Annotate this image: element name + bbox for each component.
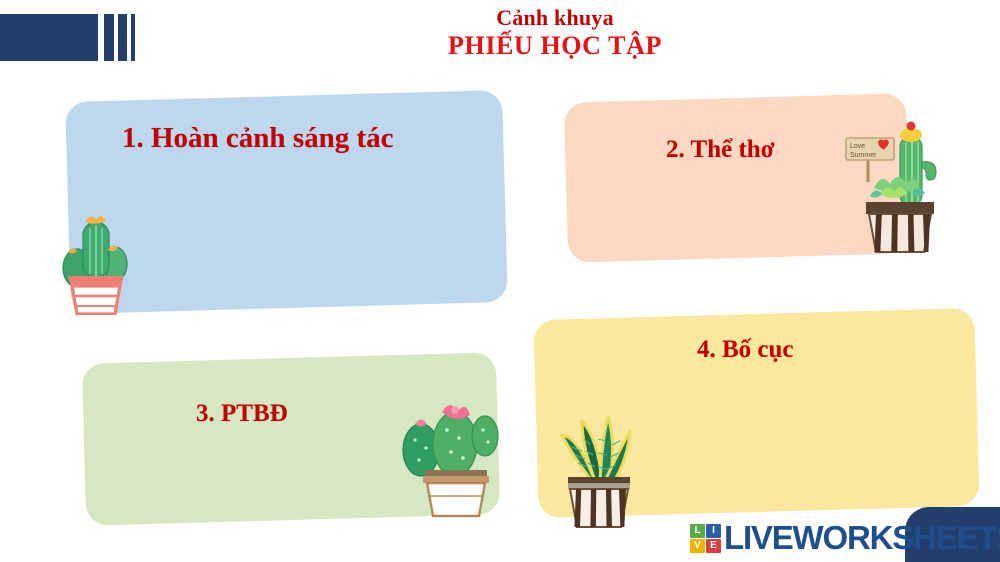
- snake-plant-icon: [540, 385, 650, 530]
- logo-tile-e: E: [706, 539, 721, 553]
- liveworksheets-wordmark: LIVEWORKSHEETS: [724, 519, 1000, 557]
- task-card-2-label: 2. Thể thơ: [666, 136, 775, 164]
- page-title-worksheet: PHIẾU HỌC TẬP: [330, 31, 780, 60]
- svg-text:Summer: Summer: [850, 152, 877, 159]
- task-card-1-label: 1. Hoàn cảnh sáng tác: [122, 122, 394, 155]
- task-card-4-label: 4. Bố cục: [697, 336, 794, 364]
- header-decoration-block: [0, 14, 98, 61]
- worksheet-canvas: Cảnh khuya PHIẾU HỌC TẬP 1. Hoàn cảnh sá…: [0, 0, 1000, 562]
- header-decoration-bar-3: [131, 14, 135, 61]
- cactus-flowering-icon: [395, 378, 505, 518]
- svg-text:Love: Love: [850, 143, 865, 150]
- logo-tile-i: I: [706, 524, 721, 538]
- liveworksheets-watermark: L I V E LIVEWORKSHEETS: [690, 521, 1000, 555]
- cactus-pink-pot-icon: [52, 190, 138, 315]
- logo-tile-v: V: [690, 539, 705, 553]
- header-decoration-bar-1: [104, 14, 114, 61]
- task-card-3-label: 3. PTBĐ: [196, 400, 288, 428]
- page-title-poem-name: Cảnh khuya: [330, 6, 780, 31]
- liveworksheets-logo-icon: L I V E: [690, 524, 721, 553]
- logo-tile-l: L: [690, 524, 705, 538]
- header-decoration-bar-2: [118, 14, 127, 61]
- page-title: Cảnh khuya PHIẾU HỌC TẬP: [330, 6, 780, 60]
- cactus-love-summer-sign-icon: Love Summer: [840, 110, 955, 255]
